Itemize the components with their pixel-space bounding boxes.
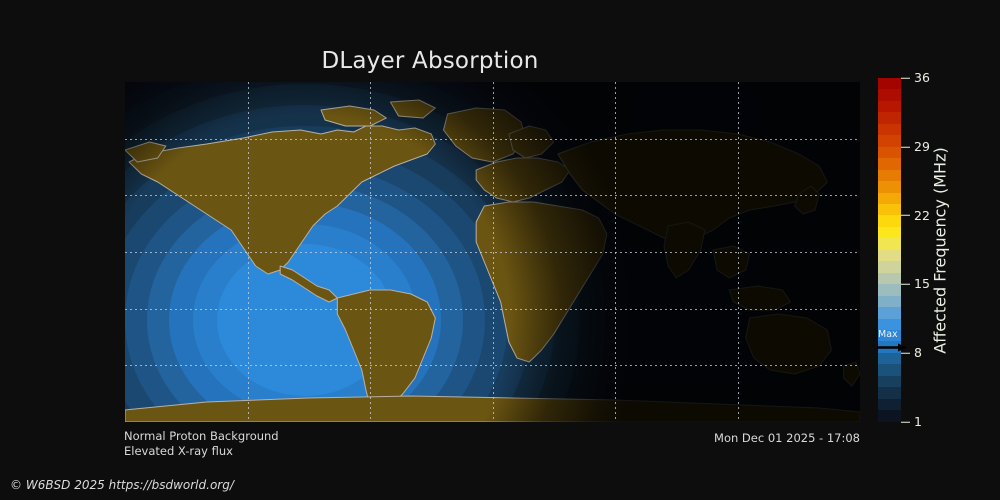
colorbar-segment xyxy=(878,376,901,387)
colorbar-tick-mark xyxy=(901,284,910,285)
colorbar-tick-label: 36 xyxy=(914,72,930,85)
colorbar-tick-mark xyxy=(901,422,910,423)
max-annotation: Max xyxy=(876,330,910,354)
colorbar[interactable] xyxy=(878,78,901,422)
colorbar-segment xyxy=(878,227,901,238)
continent-outlines xyxy=(125,82,860,422)
colorbar-segment xyxy=(878,135,901,146)
colorbar-segment xyxy=(878,101,901,112)
colorbar-tick-label: 1 xyxy=(914,416,922,429)
colorbar-segment xyxy=(878,284,901,295)
footer-text: W6BSD 2025 https://bsdworld.org/ xyxy=(26,478,234,492)
colorbar-tick-label: 29 xyxy=(914,141,930,154)
max-arrow-icon xyxy=(877,343,907,352)
colorbar-tick: 29 xyxy=(901,141,930,154)
colorbar-segment xyxy=(878,215,901,226)
colorbar-segment xyxy=(878,204,901,215)
colorbar-segment xyxy=(878,78,901,89)
colorbar-segment xyxy=(878,296,901,307)
colorbar-segment xyxy=(878,124,901,135)
colorbar-segment xyxy=(878,181,901,192)
colorbar-segment xyxy=(878,193,901,204)
colorbar-tick-label: 15 xyxy=(914,278,930,291)
colorbar-tick: 15 xyxy=(901,278,930,291)
colorbar-segment xyxy=(878,261,901,272)
status-block: Normal Proton Background Elevated X-ray … xyxy=(124,429,279,459)
colorbar-tick: 36 xyxy=(901,72,930,85)
colorbar-axis-label-text: Affected Frequency (MHz) xyxy=(931,147,950,353)
world-map[interactable] xyxy=(125,82,860,422)
colorbar-segment xyxy=(878,89,901,100)
colorbar-segment xyxy=(878,364,901,375)
footer-credit: © W6BSD 2025 https://bsdworld.org/ xyxy=(10,478,234,492)
page-title: DLayer Absorption xyxy=(0,48,860,74)
colorbar-segment xyxy=(878,307,901,318)
xray-status: Elevated X-ray flux xyxy=(124,444,279,459)
colorbar-segment xyxy=(878,170,901,181)
colorbar-segment xyxy=(878,112,901,123)
colorbar-axis-label: Affected Frequency (MHz) xyxy=(929,78,951,422)
colorbar-tick-label: 22 xyxy=(914,209,930,222)
colorbar-segment xyxy=(878,158,901,169)
colorbar-tick-label: 8 xyxy=(914,347,922,360)
colorbar-tick: 1 xyxy=(901,416,922,429)
colorbar-segment xyxy=(878,238,901,249)
colorbar-segment xyxy=(878,387,901,398)
dlayer-absorption-page: DLayer Absorption xyxy=(0,0,1000,500)
colorbar-segment xyxy=(878,273,901,284)
copyright-icon: © xyxy=(10,478,22,492)
colorbar-segment xyxy=(878,147,901,158)
colorbar-tick-mark xyxy=(901,215,910,216)
colorbar-tick: 22 xyxy=(901,209,930,222)
colorbar-segment xyxy=(878,410,901,421)
proton-status: Normal Proton Background xyxy=(124,429,279,444)
colorbar-segment xyxy=(878,353,901,364)
colorbar-tick-mark xyxy=(901,78,910,79)
max-annotation-label: Max xyxy=(878,330,898,340)
colorbar-segment xyxy=(878,250,901,261)
colorbar-segment xyxy=(878,399,901,410)
colorbar-tick-mark xyxy=(901,146,910,147)
timestamp: Mon Dec 01 2025 - 17:08 xyxy=(560,431,860,445)
